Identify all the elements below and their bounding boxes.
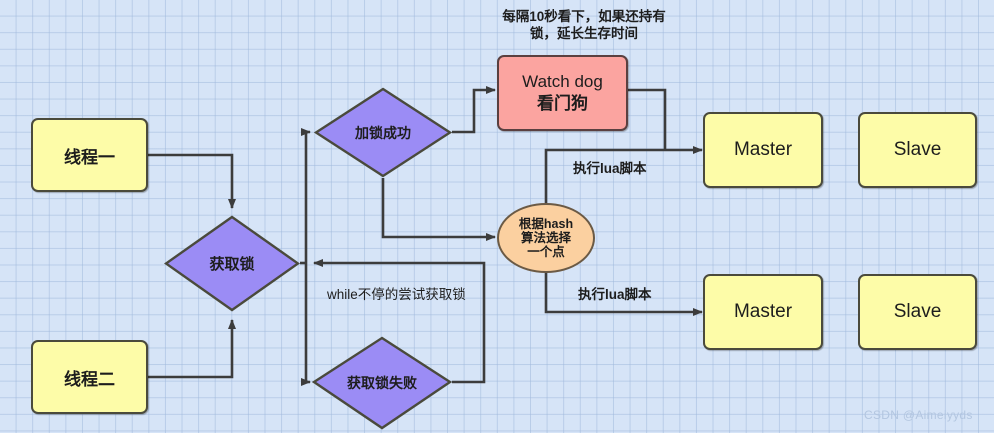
node-watch-dog-label-line1: Watch dog [522,71,603,93]
node-lock-success-label: 加锁成功 [314,87,452,178]
edge-watchdog-to-master-top [628,90,665,150]
node-hash-select[interactable]: 根据hash 算法选择 一个点 [497,203,595,273]
node-master-bottom-label: Master [734,301,792,323]
edge-label-while-retry: while不停的尝试获取锁 [327,283,466,303]
node-acquire-lock[interactable]: 获取锁 [164,215,300,312]
node-master-bottom[interactable]: Master [703,274,823,350]
node-thread-one[interactable]: 线程一 [31,118,148,192]
node-hash-select-label-line3: 一个点 [527,245,565,259]
node-slave-bottom[interactable]: Slave [858,274,977,350]
edge-label-lua-bottom: 执行lua脚本 [578,283,652,303]
node-hash-select-label-line2: 算法选择 [521,231,571,245]
node-watch-dog-label-line2: 看门狗 [537,93,588,115]
watermark: CSDN @Aimeiyyds [864,408,973,422]
node-slave-bottom-label: Slave [894,301,942,323]
node-watch-dog[interactable]: Watch dog 看门狗 [497,55,628,131]
edge-lock-success-to-hash [383,178,495,237]
node-slave-top-label: Slave [894,139,942,161]
node-lock-failed[interactable]: 获取锁失败 [312,336,452,430]
node-hash-select-label-line1: 根据hash [519,217,573,231]
node-thread-two-label: 线程二 [64,365,115,390]
edge-thread-one-to-acquire [148,155,232,208]
node-thread-two[interactable]: 线程二 [31,340,148,414]
node-thread-one-label: 线程一 [64,143,115,168]
edge-thread-two-to-acquire [148,320,232,377]
node-master-top[interactable]: Master [703,112,823,188]
watchdog-note: 每隔10秒看下，如果还持有 锁，延长生存时间 [470,8,698,43]
edge-spine-up-to-lock-success [306,132,310,263]
node-lock-success[interactable]: 加锁成功 [314,87,452,178]
watchdog-note-line1: 每隔10秒看下，如果还持有 [470,8,698,25]
edge-lock-success-to-watchdog [452,90,495,132]
node-lock-failed-label: 获取锁失败 [312,336,452,430]
node-slave-top[interactable]: Slave [858,112,977,188]
node-acquire-lock-label: 获取锁 [164,215,300,312]
watchdog-note-line2: 锁，延长生存时间 [470,25,698,42]
edge-label-lua-top: 执行lua脚本 [573,157,647,177]
node-master-top-label: Master [734,139,792,161]
flowchart-canvas: 线程一 线程二 获取锁 加锁成功 获取锁失败 Watch dog 看门狗 根据h… [0,0,994,433]
edge-spine-down-to-lock-failed [306,263,310,382]
